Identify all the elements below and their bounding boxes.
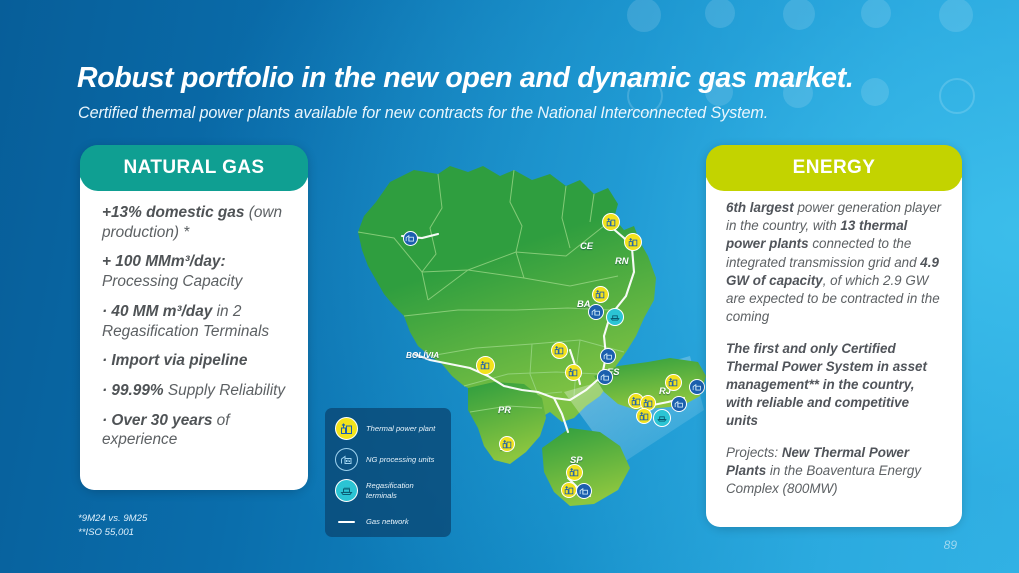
- energy-paragraphs: 6th largest power generation player in t…: [706, 167, 962, 525]
- energy-text-strong: The first and only Certified Thermal Pow…: [726, 341, 927, 429]
- map-label-rn: RN: [615, 255, 629, 266]
- legend-label: NG processing units: [366, 455, 434, 465]
- energy-paragraph-certification: The first and only Certified Thermal Pow…: [726, 340, 944, 431]
- energy-text-strong: 6th largest: [726, 200, 794, 215]
- thermal-power-plant-marker: [499, 436, 515, 452]
- ng-processing-unit-marker: [588, 304, 604, 320]
- legend-label: Regasification terminals: [366, 481, 442, 500]
- ng-processing-unit-marker: [671, 396, 687, 412]
- map-label-pr: PR: [498, 404, 511, 415]
- thermal-power-plant-marker: [476, 356, 495, 375]
- natural-gas-items: +13% domestic gas (own production) *+ 10…: [80, 167, 308, 474]
- thermal-power-plant-marker: [551, 342, 568, 359]
- natural-gas-item: + 100 MMm³/day: Processing Capacity: [102, 252, 288, 291]
- page-subtitle: Certified thermal power plants available…: [78, 104, 978, 123]
- map-label-bolvia: BOLÍVIA: [406, 351, 439, 360]
- ng-processing-unit-marker: [600, 348, 616, 364]
- energy-paragraph-capacity: 6th largest power generation player in t…: [726, 199, 944, 327]
- legend-item-ng-processing-units: NG processing units: [335, 448, 442, 471]
- natural-gas-item-rest: Processing Capacity: [102, 273, 242, 290]
- ng-processing-unit-marker: [689, 379, 705, 395]
- thermal-power-plant-icon: [335, 417, 358, 440]
- natural-gas-item: · Import via pipeline: [102, 351, 288, 371]
- thermal-power-plant-marker: [624, 233, 642, 251]
- natural-gas-panel-header: NATURAL GAS: [80, 145, 308, 191]
- natural-gas-item-strong: · Over 30 years: [102, 412, 212, 429]
- thermal-power-plant-marker: [602, 213, 620, 231]
- natural-gas-item: +13% domestic gas (own production) *: [102, 203, 288, 242]
- thermal-power-plant-marker: [561, 482, 577, 498]
- natural-gas-panel: +13% domestic gas (own production) *+ 10…: [80, 145, 308, 490]
- natural-gas-item: · 40 MM m³/day in 2 Regasification Termi…: [102, 302, 288, 341]
- regasification-terminal-icon: [335, 479, 358, 502]
- map-legend: Thermal power plant NG processing units …: [325, 408, 451, 537]
- page-title: Robust portfolio in the new open and dyn…: [77, 62, 957, 95]
- regasification-terminal-marker: [653, 409, 671, 427]
- natural-gas-item: · 99.99% Supply Reliability: [102, 381, 288, 401]
- ng-processing-unit-marker: [576, 483, 592, 499]
- page-number: 89: [944, 538, 957, 552]
- thermal-power-plant-marker: [636, 408, 652, 424]
- natural-gas-item-strong: · 40 MM m³/day: [102, 303, 212, 320]
- natural-gas-item-rest: Supply Reliability: [164, 382, 285, 399]
- energy-panel-header: ENERGY: [706, 145, 962, 191]
- legend-label: Thermal power plant: [366, 424, 435, 434]
- thermal-power-plant-marker: [592, 286, 609, 303]
- natural-gas-item-strong: · 99.99%: [102, 382, 164, 399]
- energy-text: and: [891, 255, 921, 270]
- map-label-ce: CE: [580, 240, 593, 251]
- footnote-2: **ISO 55,001: [78, 526, 147, 540]
- natural-gas-panel-body: +13% domestic gas (own production) *+ 10…: [80, 167, 308, 490]
- energy-text: Projects:: [726, 445, 782, 460]
- thermal-power-plant-marker: [665, 374, 682, 391]
- energy-panel-body: 6th largest power generation player in t…: [706, 167, 962, 527]
- regasification-terminal-marker: [606, 308, 624, 326]
- legend-item-thermal-power-plant: Thermal power plant: [335, 417, 442, 440]
- natural-gas-item-strong: · Import via pipeline: [102, 352, 247, 369]
- gas-network-line-icon: [335, 510, 358, 533]
- legend-item-gas-network: Gas network: [335, 510, 442, 533]
- legend-item-regasification-terminals: Regasification terminals: [335, 479, 442, 502]
- ng-processing-unit-icon: [335, 448, 358, 471]
- energy-panel: 6th largest power generation player in t…: [706, 145, 962, 527]
- natural-gas-item-strong: + 100 MMm³/day:: [102, 253, 226, 270]
- legend-label: Gas network: [366, 517, 409, 527]
- natural-gas-item-strong: +13% domestic gas: [102, 204, 244, 221]
- decorative-dot-grid: [609, 0, 1019, 112]
- footnote-1: *9M24 vs. 9M25: [78, 512, 147, 526]
- thermal-power-plant-marker: [565, 364, 582, 381]
- footnotes: *9M24 vs. 9M25 **ISO 55,001: [78, 512, 147, 540]
- energy-paragraph-projects: Projects: New Thermal Power Plants in th…: [726, 444, 944, 499]
- thermal-power-plant-marker: [566, 464, 583, 481]
- natural-gas-item: · Over 30 years of experience: [102, 411, 288, 450]
- ng-processing-unit-marker: [597, 369, 613, 385]
- ng-processing-unit-marker: [403, 231, 418, 246]
- slide: Robust portfolio in the new open and dyn…: [0, 0, 1019, 573]
